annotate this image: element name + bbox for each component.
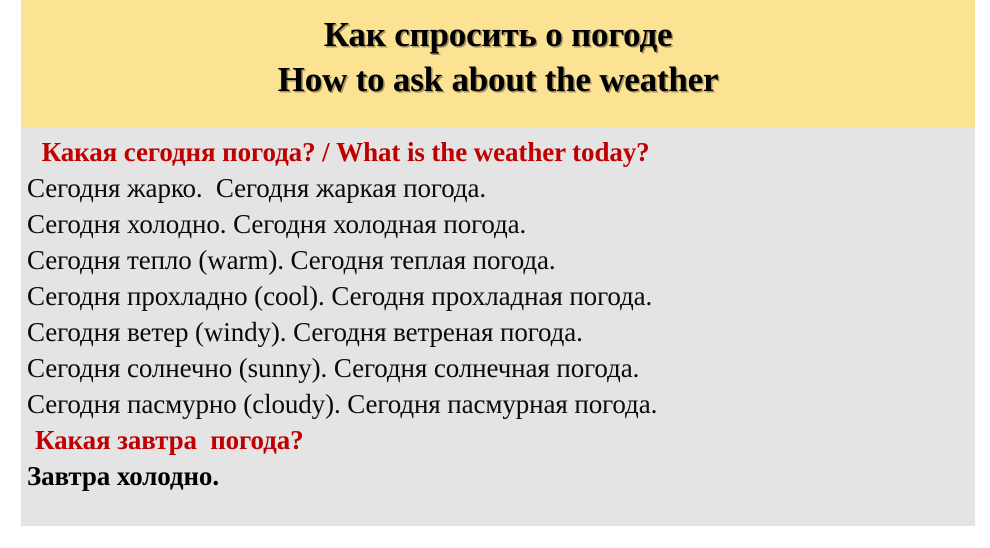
slide-title-line-english: How to ask about the weather <box>21 57 975 102</box>
phrase-hot: Сегодня жарко. Сегодня жаркая погода. <box>27 170 969 206</box>
phrase-cloudy: Сегодня пасмурно (cloudy). Сегодня пасму… <box>27 386 969 422</box>
phrase-cold: Сегодня холодно. Сегодня холодная погода… <box>27 206 969 242</box>
phrase-warm: Сегодня тепло (warm). Сегодня теплая пог… <box>27 242 969 278</box>
phrase-windy: Сегодня ветер (windy). Сегодня ветреная … <box>27 314 969 350</box>
slide-body-band: Какая сегодня погода? / What is the weat… <box>21 128 975 526</box>
phrase-sunny: Сегодня солнечно (sunny). Сегодня солнеч… <box>27 350 969 386</box>
phrase-question-tomorrow: Какая завтра погода? <box>27 422 969 458</box>
phrase-cool: Сегодня прохладно (cool). Сегодня прохла… <box>27 278 969 314</box>
slide: Как спросить о погоде How to ask about t… <box>21 0 975 526</box>
slide-title-line-russian: Как спросить о погоде <box>21 12 975 57</box>
phrase-list: Какая сегодня погода? / What is the weat… <box>27 134 969 494</box>
slide-title: Как спросить о погоде How to ask about t… <box>21 12 975 102</box>
slide-title-band: Как спросить о погоде How to ask about t… <box>21 0 975 128</box>
phrase-question-today: Какая сегодня погода? / What is the weat… <box>27 134 969 170</box>
phrase-answer-tomorrow: Завтра холодно. <box>27 458 969 494</box>
